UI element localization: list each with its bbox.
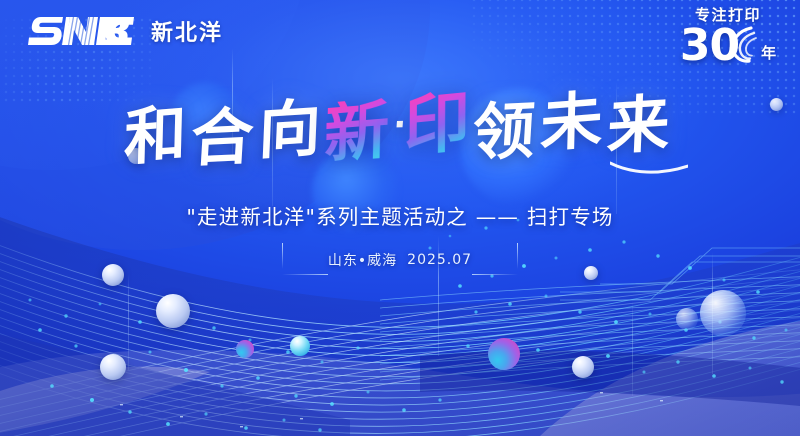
- snbc-logo-icon: [26, 14, 138, 48]
- event-location: 山东•威海: [328, 250, 397, 270]
- hero-title-char-6: 印: [404, 88, 476, 160]
- brand-logo[interactable]: 新北洋: [26, 14, 223, 48]
- hero-title-char-2: 合: [190, 105, 261, 170]
- hero-title-char-3: 向: [258, 97, 328, 163]
- sphere-white-lowleft: [100, 354, 126, 380]
- brand-name-cn: 新北洋: [151, 15, 223, 47]
- sphere-pink-center: [488, 338, 520, 370]
- event-banner: 新北洋 专注打印 30 年 和合向新·印领未来 "走进新北洋"系列主题活动之 —…: [0, 0, 800, 436]
- vertical-light-beam-7: [632, 300, 633, 396]
- place-date-tick-right: [517, 243, 518, 269]
- hero-title-char-4: 新: [324, 97, 396, 167]
- event-date: 2025.07: [407, 252, 472, 268]
- hero-title-char-9: 来: [606, 92, 676, 158]
- sphere-white-center: [572, 356, 594, 378]
- anniversary-unit: 年: [761, 46, 776, 61]
- hero-subtitle: "走进新北洋"系列主题活动之 —— 扫打专场: [0, 200, 800, 230]
- swirl-ring-icon: [729, 24, 763, 64]
- hero-title-char-1: 和: [124, 102, 193, 169]
- hero-title: 和合向新·印领未来: [122, 88, 677, 165]
- sphere-white-right: [700, 290, 746, 336]
- place-date-tick-left: [282, 243, 283, 269]
- hero-title-char-8: 未: [540, 89, 609, 156]
- hero-title-char-7: 领: [471, 100, 542, 165]
- sphere-pink-small: [236, 340, 254, 358]
- sphere-white-topright: [676, 308, 698, 330]
- sphere-cyan-small: [290, 336, 310, 356]
- anniversary-badge: 专注打印 30 年: [674, 8, 782, 66]
- hero-title-block: 和合向新·印领未来: [0, 96, 800, 158]
- sphere-white-mid: [156, 294, 190, 328]
- vertical-light-beam-6: [128, 274, 129, 370]
- event-place-date: 山东•威海 2025.07: [0, 247, 800, 275]
